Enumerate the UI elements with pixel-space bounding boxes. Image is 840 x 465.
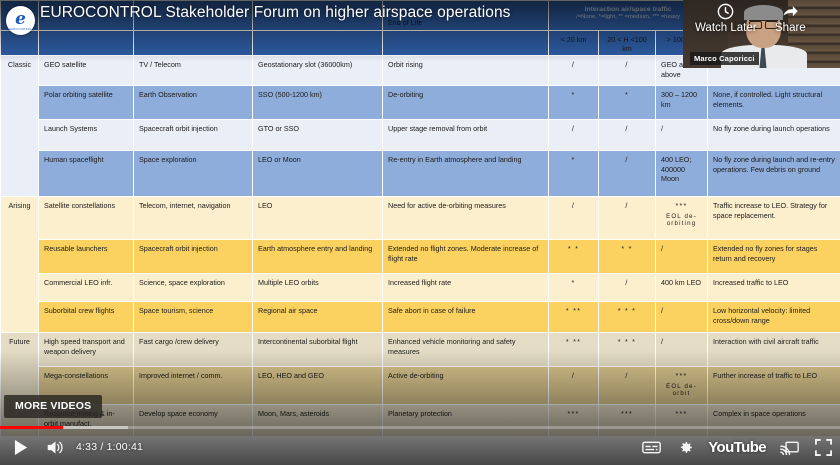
category-cell-classic: Classic xyxy=(1,56,39,197)
cell-note: EOL de-orbiting xyxy=(661,213,702,229)
cell-interaction-under-20km: * xyxy=(549,151,599,197)
cell-interaction-over-100km: / xyxy=(656,240,708,274)
cell-interaction-20-100km: / xyxy=(599,56,656,86)
share-arrow-icon xyxy=(781,2,800,21)
cell-end-of-life: Enhanced vehicle monitoring and safety m… xyxy=(383,333,549,367)
play-icon xyxy=(14,439,29,456)
cell-mission: High speed transport and weapon delivery xyxy=(39,333,134,367)
watch-later-label: Watch Later xyxy=(695,22,757,34)
clock-icon xyxy=(716,2,735,21)
cell-mission: Suborbital crew flights xyxy=(39,302,134,333)
interaction-legend: /=None, *=light, ** =medium, *** =heavy xyxy=(554,14,702,22)
cell-interaction-over-100km: / xyxy=(656,302,708,333)
table-row: Suborbital crew flightsSpace tourism, sc… xyxy=(1,302,840,333)
subheader-spacer-5 xyxy=(383,31,549,56)
cell-interaction-20-100km: / xyxy=(599,120,656,151)
category-cell-future: Future xyxy=(1,333,39,437)
gear-icon xyxy=(677,439,694,456)
cast-icon xyxy=(780,440,799,455)
cell-interaction-20-100km: / xyxy=(599,151,656,197)
cell-purpose: Fast cargo /crew delivery xyxy=(134,333,253,367)
subtitles-icon xyxy=(642,440,661,455)
cell-remarks: No fly zone during launch operations xyxy=(708,120,840,151)
cell-remarks: No fly zone during launch and re-entry o… xyxy=(708,151,840,197)
subtitles-button[interactable] xyxy=(634,429,668,465)
interaction-title: Interaction air/space traffic xyxy=(554,5,702,14)
cell-remarks: Traffic increase to LEO. Strategy for sp… xyxy=(708,197,840,240)
fullscreen-icon xyxy=(815,439,832,456)
cell-interaction-over-100km: / xyxy=(656,120,708,151)
cell-end-of-life: Safe abort in case of failure xyxy=(383,302,549,333)
video-title[interactable]: EUROCONTROL Stakeholder Forum on higher … xyxy=(40,4,511,22)
cell-interaction-under-20km: * ** xyxy=(549,333,599,367)
watch-later-button[interactable]: Watch Later xyxy=(695,2,757,34)
cell-interaction-over-100km: 400 km LEO xyxy=(656,274,708,302)
eurocontrol-logo-subtext: EUROCONTROL xyxy=(6,28,35,31)
cell-interaction-over-100km: ***EOL de-orbit xyxy=(656,367,708,405)
cell-orbit: Earth atmosphere entry and landing xyxy=(253,240,383,274)
table-row: FutureHigh speed transport and weapon de… xyxy=(1,333,840,367)
speaker-name-badge: Marco Caporicci xyxy=(690,52,759,65)
cell-interaction-20-100km: * xyxy=(599,86,656,120)
cell-mission: Launch Systems xyxy=(39,120,134,151)
cell-purpose: Space tourism, science xyxy=(134,302,253,333)
cell-purpose: Spacecraft orbit injection xyxy=(134,240,253,274)
cell-remarks: Low horizontal velocity: limited cross/d… xyxy=(708,302,840,333)
cell-purpose: Telecom, internet, navigation xyxy=(134,197,253,240)
fullscreen-button[interactable] xyxy=(806,429,840,465)
cell-mission: Reusable launchers xyxy=(39,240,134,274)
cell-purpose: TV / Telecom xyxy=(134,56,253,86)
cell-interaction-under-20km: / xyxy=(549,367,599,405)
cell-end-of-life: Need for active de-orbiting measures xyxy=(383,197,549,240)
cell-interaction-20-100km: / xyxy=(599,274,656,302)
cell-end-of-life: De-orbiting xyxy=(383,86,549,120)
cell-purpose: Earth Observation xyxy=(134,86,253,120)
cell-end-of-life: Re-entry in Earth atmosphere and landing xyxy=(383,151,549,197)
cell-interaction-20-100km: * * * xyxy=(599,333,656,367)
cell-remarks: Increased traffic to LEO xyxy=(708,274,840,302)
cell-end-of-life: Extended no flight zones. Moderate incre… xyxy=(383,240,549,274)
cell-orbit: GTO or SSO xyxy=(253,120,383,151)
cell-mission: Commercial LEO infr. xyxy=(39,274,134,302)
youtube-logo[interactable]: YouTube xyxy=(708,439,766,456)
cell-end-of-life: Upper stage removal from orbit xyxy=(383,120,549,151)
table-row: Launch SystemsSpacecraft orbit injection… xyxy=(1,120,840,151)
cell-orbit: Regional air space xyxy=(253,302,383,333)
subheader-spacer-3 xyxy=(134,31,253,56)
cell-mission: Satellite constellations xyxy=(39,197,134,240)
cast-button[interactable] xyxy=(772,429,806,465)
cell-remarks: None, if controlled. Light structural el… xyxy=(708,86,840,120)
cell-orbit: LEO, HEO and GEO xyxy=(253,367,383,405)
cell-interaction-under-20km: / xyxy=(549,120,599,151)
cell-note: EOL de-orbit xyxy=(661,383,702,399)
subheader-band-0: < 20 km xyxy=(549,31,599,56)
youtube-player: End of Life Interaction air/space traffi… xyxy=(0,0,840,465)
table-row: Commercial LEO infr.Science, space explo… xyxy=(1,274,840,302)
player-controls: 4:33 / 1:00:41 YouTube xyxy=(0,429,840,465)
share-label: Share xyxy=(775,22,806,34)
table-row: Polar orbiting satelliteEarth Observatio… xyxy=(1,86,840,120)
time-display: 4:33 / 1:00:41 xyxy=(76,441,143,453)
cell-orbit: LEO xyxy=(253,197,383,240)
cell-end-of-life: Orbit rising xyxy=(383,56,549,86)
table-row: Human spaceflightSpace explorationLEO or… xyxy=(1,151,840,197)
cell-interaction-under-20km: / xyxy=(549,56,599,86)
subheader-band-1: 20 < H <100 km xyxy=(599,31,656,56)
table-body: ClassicGEO satelliteTV / TelecomGeostati… xyxy=(1,56,840,437)
cell-interaction-under-20km: * * xyxy=(549,240,599,274)
channel-avatar[interactable]: e EUROCONTROL xyxy=(6,6,35,35)
cell-interaction-under-20km: * xyxy=(549,86,599,120)
cell-remarks: Further increase of traffic to LEO xyxy=(708,367,840,405)
cell-interaction-under-20km: * ** xyxy=(549,302,599,333)
cell-remarks: Extended no fly zones for stages return … xyxy=(708,240,840,274)
volume-icon xyxy=(46,439,65,456)
cell-end-of-life: Increased flight rate xyxy=(383,274,549,302)
share-button[interactable]: Share xyxy=(775,2,806,34)
cell-purpose: Improved internet / comm. xyxy=(134,367,253,405)
subheader-spacer-2 xyxy=(39,31,134,56)
cell-interaction-over-100km: ***EOL de-orbiting xyxy=(656,197,708,240)
subheader-spacer-4 xyxy=(253,31,383,56)
cell-end-of-life: Active de-orbiting xyxy=(383,367,549,405)
cell-interaction-over-100km: 400 LEO; 400000 Moon xyxy=(656,151,708,197)
eurocontrol-logo-icon: e xyxy=(15,11,26,28)
category-cell-arising: Arising xyxy=(1,197,39,333)
cell-interaction-over-100km: 300 – 1200 km xyxy=(656,86,708,120)
cell-purpose: Spacecraft orbit injection xyxy=(134,120,253,151)
cell-purpose: Science, space exploration xyxy=(134,274,253,302)
volume-button[interactable] xyxy=(38,429,72,465)
table-row: Mega-constellationsImproved internet / c… xyxy=(1,367,840,405)
cell-purpose: Space exploration xyxy=(134,151,253,197)
settings-button[interactable] xyxy=(668,429,702,465)
cell-interaction-under-20km: * xyxy=(549,274,599,302)
play-button[interactable] xyxy=(4,429,38,465)
cell-remarks: Interaction with civil aircraft traffic xyxy=(708,333,840,367)
cell-interaction-20-100km: / xyxy=(599,367,656,405)
cell-orbit: LEO or Moon xyxy=(253,151,383,197)
more-videos-button[interactable]: MORE VIDEOS xyxy=(4,395,102,418)
cell-mission: Polar orbiting satellite xyxy=(39,86,134,120)
cell-interaction-over-100km: / xyxy=(656,333,708,367)
table-row: ArisingSatellite constellationsTelecom, … xyxy=(1,197,840,240)
cell-interaction-20-100km: * * * xyxy=(599,302,656,333)
cell-orbit: SSO (500-1200 km) xyxy=(253,86,383,120)
cell-interaction-20-100km: * * xyxy=(599,240,656,274)
cell-mission: GEO satellite xyxy=(39,56,134,86)
cell-mission: Human spaceflight xyxy=(39,151,134,197)
cell-interaction-under-20km: / xyxy=(549,197,599,240)
table-row: Reusable launchersSpacecraft orbit injec… xyxy=(1,240,840,274)
cell-orbit: Multiple LEO orbits xyxy=(253,274,383,302)
presentation-slide: End of Life Interaction air/space traffi… xyxy=(0,0,840,465)
cell-interaction-20-100km: / xyxy=(599,197,656,240)
cell-orbit: Intercontinental suborbital flight xyxy=(253,333,383,367)
cell-orbit: Geostationary slot (36000km) xyxy=(253,56,383,86)
